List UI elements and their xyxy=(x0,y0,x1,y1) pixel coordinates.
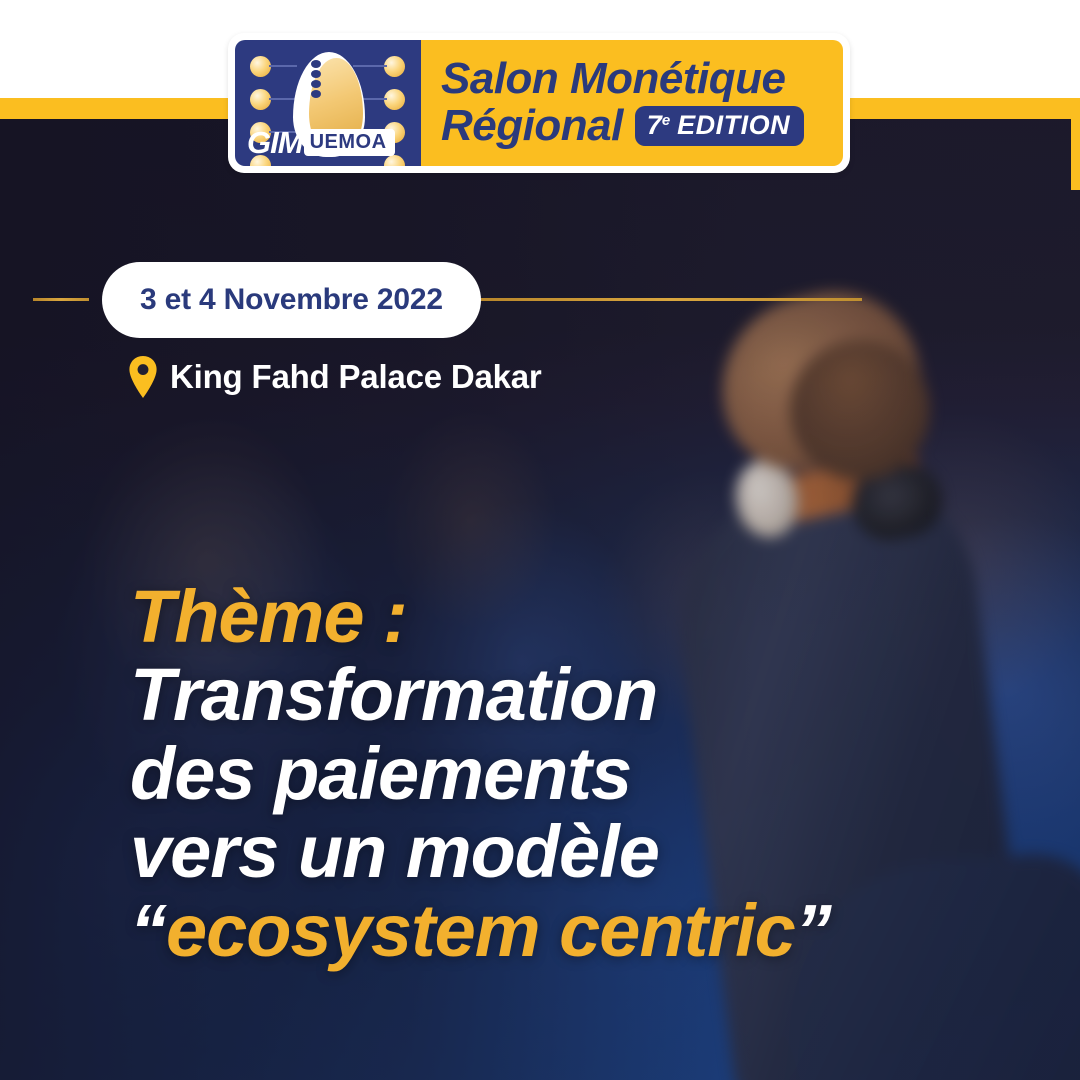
date-rule-left xyxy=(33,298,89,301)
edition-word: EDITION xyxy=(677,112,790,139)
edition-number: 7 xyxy=(647,112,662,139)
shell-slit xyxy=(311,60,321,102)
event-venue-row: King Fahd Palace Dakar xyxy=(128,356,542,398)
event-date-label: 3 et 4 Novembre 2022 xyxy=(140,283,443,317)
event-title-card: Salon Monétique Régional 7e EDITION xyxy=(421,40,843,166)
theme-line-1: Transformation xyxy=(130,656,1000,734)
quote-open: “ xyxy=(130,889,166,972)
edition-ordinal-suffix: e xyxy=(662,113,670,128)
header-logo-lockup: GIM UEMOA Salon Monétique Régional 7e ED… xyxy=(228,33,850,173)
quote-close: ” xyxy=(795,889,831,972)
brand-sub: UEMOA xyxy=(304,129,395,156)
theme-quoted-line: “ecosystem centric” xyxy=(130,892,1000,970)
map-pin-icon xyxy=(128,356,158,398)
event-theme-block: Thème : Transformation des paiements ver… xyxy=(130,578,1000,970)
logo-dot xyxy=(250,56,271,77)
event-poster: GIM UEMOA Salon Monétique Régional 7e ED… xyxy=(0,0,1080,1080)
date-rule-right xyxy=(478,298,862,301)
logo-dot xyxy=(384,89,405,110)
theme-line-3: vers un modèle xyxy=(130,813,1000,891)
edition-badge: 7e EDITION xyxy=(635,106,804,146)
event-title-line2: Régional xyxy=(441,104,623,149)
logo-dot xyxy=(384,56,405,77)
gim-uemoa-wordmark: GIM UEMOA xyxy=(247,127,395,157)
event-title-line1: Salon Monétique xyxy=(441,57,829,102)
event-title-line2-row: Régional 7e EDITION xyxy=(441,104,829,149)
gold-right-edge-accent xyxy=(1071,98,1080,190)
gim-uemoa-logo: GIM UEMOA xyxy=(235,40,421,166)
event-date-row: 3 et 4 Novembre 2022 xyxy=(0,262,1080,338)
theme-label: Thème : xyxy=(130,578,1000,656)
event-date-pill: 3 et 4 Novembre 2022 xyxy=(102,262,481,338)
event-venue-label: King Fahd Palace Dakar xyxy=(170,358,542,396)
theme-quote-text: ecosystem centric xyxy=(166,889,795,972)
logo-dot xyxy=(250,89,271,110)
brand-main: GIM xyxy=(247,127,303,158)
theme-line-2: des paiements xyxy=(130,735,1000,813)
